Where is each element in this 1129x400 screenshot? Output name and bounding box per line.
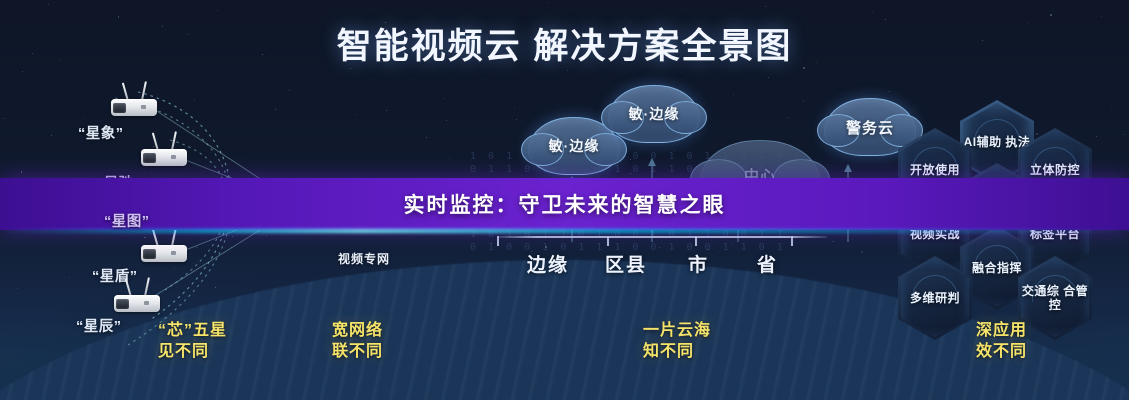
star-dot bbox=[217, 10, 218, 11]
star-dot bbox=[1111, 109, 1112, 110]
star-dot bbox=[4, 118, 5, 119]
axis-tick bbox=[695, 236, 697, 246]
video-private-network-label: 视频专网 bbox=[338, 250, 390, 267]
camera-lens-icon bbox=[143, 153, 156, 163]
hex-label: 融合指挥 bbox=[972, 261, 1022, 275]
camera-device-5 bbox=[108, 288, 164, 314]
star-dot bbox=[491, 242, 492, 243]
star-dot bbox=[1096, 136, 1097, 137]
star-dot bbox=[194, 100, 195, 101]
camera-label-1: “星象” bbox=[78, 122, 124, 143]
camera-led-icon bbox=[141, 105, 146, 109]
star-dot bbox=[204, 95, 205, 96]
star-dot bbox=[545, 246, 547, 248]
hex-label: 多维研判 bbox=[910, 291, 960, 305]
camera-label-5: “星辰” bbox=[76, 315, 122, 336]
axis-tick bbox=[791, 236, 793, 246]
star-dot bbox=[718, 252, 719, 253]
caption-cloud-sea: 一片云海 知不同 bbox=[643, 320, 711, 362]
star-dot bbox=[289, 90, 290, 91]
overlay-banner: 实时监控：守卫未来的智慧之眼 bbox=[0, 178, 1129, 230]
star-dot bbox=[787, 117, 788, 118]
caption-broadband: 宽网络 联不同 bbox=[332, 320, 383, 362]
antenna-icon bbox=[171, 131, 177, 150]
tier-label-edge: 边缘 bbox=[527, 250, 569, 277]
overlay-banner-text: 实时监控：守卫未来的智慧之眼 bbox=[404, 189, 726, 219]
cloud-edge-2: 敏·边缘 bbox=[608, 85, 700, 143]
star-dot bbox=[765, 6, 766, 7]
tier-label-district: 区县 bbox=[605, 250, 647, 277]
star-dot bbox=[861, 251, 863, 253]
star-dot bbox=[241, 159, 242, 160]
star-dot bbox=[69, 277, 70, 278]
axis-tick bbox=[607, 236, 609, 246]
cloud-label: 警务云 bbox=[846, 117, 894, 138]
star-dot bbox=[714, 15, 715, 16]
tier-axis-line bbox=[497, 236, 827, 238]
star-dot bbox=[196, 247, 197, 248]
panorama-stage: 1 0 1 0 0 1 1 0 1 0 0 1 0 1 1 0 1 0 0 1 … bbox=[0, 0, 1129, 400]
star-dot bbox=[21, 171, 23, 173]
star-dot bbox=[174, 268, 175, 269]
star-dot bbox=[232, 236, 233, 237]
star-dot bbox=[803, 100, 805, 102]
star-dot bbox=[17, 288, 18, 289]
star-dot bbox=[426, 137, 427, 138]
star-dot bbox=[1050, 14, 1052, 16]
camera-device-4 bbox=[135, 238, 191, 264]
caption-five-star: “芯”五星 见不同 bbox=[158, 320, 227, 362]
camera-led-icon bbox=[171, 155, 176, 159]
star-dot bbox=[567, 70, 568, 71]
star-dot bbox=[731, 243, 732, 244]
tier-label-province: 省 bbox=[757, 250, 778, 277]
cloud-label: 敏·边缘 bbox=[549, 136, 600, 156]
hex-label: 交通综 合管控 bbox=[1018, 284, 1092, 312]
star-dot bbox=[275, 109, 276, 110]
star-dot bbox=[22, 71, 23, 72]
tier-label-city: 市 bbox=[688, 250, 709, 277]
star-dot bbox=[51, 135, 52, 136]
star-dot bbox=[852, 239, 853, 240]
axis-tick bbox=[497, 236, 499, 246]
star-dot bbox=[630, 159, 631, 160]
star-dot bbox=[516, 119, 517, 120]
star-dot bbox=[1036, 133, 1038, 135]
hex-label: 立体防控 bbox=[1030, 163, 1080, 177]
camera-led-icon bbox=[171, 251, 176, 255]
caption-deep-app: 深应用 效不同 bbox=[976, 320, 1027, 362]
star-dot bbox=[674, 150, 675, 151]
camera-lens-icon bbox=[143, 249, 156, 259]
camera-device-2 bbox=[135, 142, 191, 168]
star-dot bbox=[1124, 134, 1125, 135]
star-dot bbox=[762, 87, 763, 88]
star-dot bbox=[446, 120, 447, 121]
star-dot bbox=[84, 117, 85, 118]
star-dot bbox=[386, 110, 387, 111]
camera-label-3: “星图” bbox=[104, 210, 150, 231]
star-dot bbox=[768, 77, 769, 78]
antenna-icon bbox=[144, 277, 150, 296]
star-dot bbox=[449, 158, 450, 159]
star-dot bbox=[872, 12, 874, 14]
hex-label: 开放使用 bbox=[910, 163, 960, 177]
star-dot bbox=[630, 173, 631, 174]
star-dot bbox=[298, 82, 299, 83]
star-dot bbox=[832, 241, 834, 243]
star-dot bbox=[151, 173, 152, 174]
star-dot bbox=[356, 114, 357, 115]
camera-label-4: “星盾” bbox=[92, 265, 138, 286]
camera-lens-icon bbox=[113, 103, 126, 113]
star-dot bbox=[266, 235, 267, 236]
camera-led-icon bbox=[144, 301, 149, 305]
star-dot bbox=[215, 287, 216, 288]
banner-glow-line bbox=[0, 229, 1129, 233]
star-dot bbox=[1101, 16, 1102, 17]
camera-device-1 bbox=[105, 92, 161, 118]
antenna-icon bbox=[141, 81, 147, 100]
star-dot bbox=[443, 98, 444, 99]
star-dot bbox=[733, 94, 734, 95]
star-dot bbox=[179, 130, 180, 131]
star-dot bbox=[548, 2, 549, 3]
page-title: 智能视频云 解决方案全景图 bbox=[0, 18, 1129, 69]
camera-lens-icon bbox=[116, 299, 129, 309]
star-dot bbox=[231, 247, 232, 248]
star-dot bbox=[659, 247, 660, 248]
star-dot bbox=[514, 107, 515, 108]
star-dot bbox=[48, 4, 49, 5]
star-dot bbox=[889, 91, 890, 92]
hex-label: AI辅助 执法 bbox=[964, 135, 1031, 149]
cloud-label: 敏·边缘 bbox=[629, 104, 680, 124]
